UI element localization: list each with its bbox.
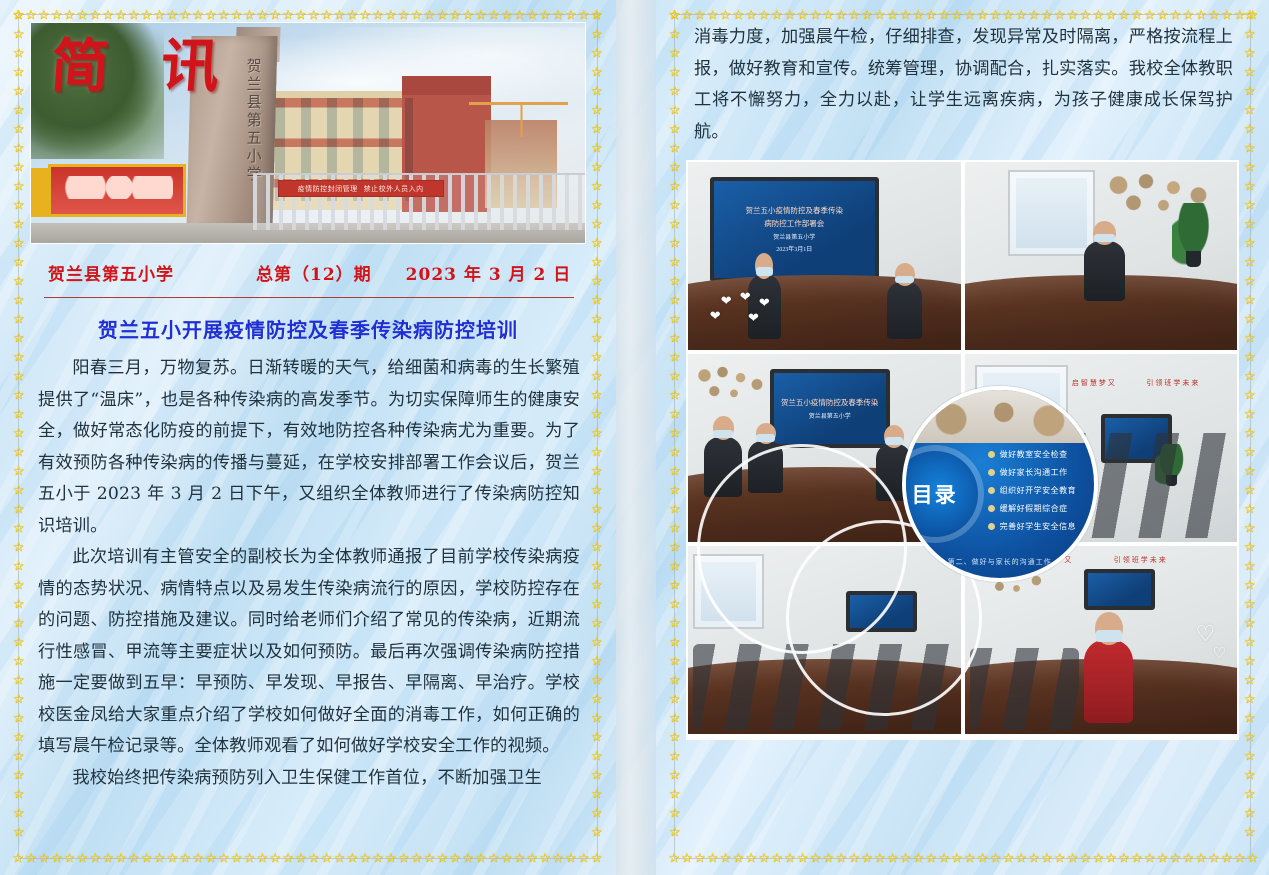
heart-sticker-icon: ❤: [740, 289, 751, 305]
list-item: 做好教室安全检查: [988, 449, 1077, 460]
left-page-content: 贺兰县第五小学 疫情防控封闭管理 禁止校外人员入内 简 讯 贺兰县第五小学 总第…: [30, 22, 586, 853]
star-border-left-icon: ☆☆☆☆☆☆☆☆☆☆☆☆☆☆☆☆☆☆☆☆☆☆☆☆☆☆☆☆☆☆☆☆☆☆☆☆☆☆☆☆…: [12, 8, 26, 865]
heart-sticker-icon: ❤: [721, 293, 732, 309]
list-item: 做好家长沟通工作: [988, 467, 1077, 478]
attendee-person: [887, 282, 922, 338]
article-paragraph: 消毒力度，加强晨午检，仔细排查，发现异常及时隔离，严格按流程上报，做好教育和宣传…: [694, 22, 1233, 148]
party-centennial-poster: [48, 164, 187, 217]
article-paragraph: 阳春三月，万物复苏。日渐转暖的天气，给细菌和病毒的生长繁殖提供了“温床”，也是各…: [38, 353, 580, 542]
article-title: 贺兰五小开展疫情防控及春季传染病防控培训: [30, 314, 586, 343]
heart-sticker-icon: ❤: [710, 308, 721, 324]
list-item-label: 缓解好假期综合症: [1000, 503, 1068, 514]
issue-date: 2023 年 3 月 2 日: [406, 260, 572, 285]
teacher-red-coat: [1084, 640, 1133, 723]
wall-hexagon-decor: [693, 362, 775, 418]
screen-title-line1: 贺兰五小疫情防控及春季传染: [781, 398, 879, 408]
seated-teacher: [1084, 241, 1125, 301]
issue-divider: [44, 297, 574, 298]
photo-meeting-deployment-screen: 贺兰五小疫情防控及春季传染 病防控工作部署会 贺兰县第五小学 2023年3月1日…: [688, 162, 961, 350]
left-page: ☆☆☆☆☆☆☆☆☆☆☆☆☆☆☆☆☆☆☆☆☆☆☆☆☆☆☆☆☆☆☆☆☆☆☆☆☆☆☆☆…: [0, 0, 616, 875]
contents-circle-overlay: 目录 做好教室安全检查 做好家长沟通工作 组织好开学安全教育 缓解好假期综合症 …: [902, 386, 1098, 582]
masthead-title: 简 讯: [49, 35, 238, 97]
photo-teacher-at-conference-table: [965, 162, 1238, 350]
star-border-top-icon: ☆☆☆☆☆☆☆☆☆☆☆☆☆☆☆☆☆☆☆☆☆☆☆☆☆☆☆☆☆☆☆☆☆☆☆☆☆☆☆☆…: [12, 8, 604, 22]
list-item: 缓解好假期综合症: [988, 503, 1077, 514]
presentation-screen: [846, 591, 917, 632]
presentation-screen: 贺兰五小疫情防控及春季传染 贺兰县第五小学: [770, 369, 890, 448]
construction-crane: [469, 102, 569, 137]
screen-title-line2: 病防控工作部署会: [764, 219, 824, 229]
attendees-row: [970, 648, 1079, 731]
wall-slogan-right: 引领班学未来: [1114, 555, 1168, 565]
potted-plant: [1172, 203, 1216, 267]
newsletter-spread: ☆☆☆☆☆☆☆☆☆☆☆☆☆☆☆☆☆☆☆☆☆☆☆☆☆☆☆☆☆☆☆☆☆☆☆☆☆☆☆☆…: [0, 0, 1269, 875]
list-item-label: 组织好开学安全教育: [1000, 485, 1077, 496]
right-page-content: 消毒力度，加强晨午检，仔细排查，发现异常及时隔离，严格按流程上报，做好教育和宣传…: [686, 22, 1239, 853]
attendees-row: [693, 644, 955, 730]
contents-footer: 第二、做好与家长的沟通工作: [906, 557, 1094, 567]
gate-banner-right-text: 禁止校外人员入内: [364, 184, 424, 194]
presentation-screen: [1084, 569, 1155, 610]
gate-banner: 疫情防控封闭管理 禁止校外人员入内: [278, 180, 444, 197]
photo-teachers-taking-notes: [688, 546, 961, 734]
list-item-label: 做好教室安全检查: [1000, 449, 1068, 460]
contents-heading: 目录: [902, 451, 978, 537]
star-border-bottom-icon: ☆☆☆☆☆☆☆☆☆☆☆☆☆☆☆☆☆☆☆☆☆☆☆☆☆☆☆☆☆☆☆☆☆☆☆☆☆☆☆☆…: [668, 851, 1257, 865]
right-page: ☆☆☆☆☆☆☆☆☆☆☆☆☆☆☆☆☆☆☆☆☆☆☆☆☆☆☆☆☆☆☆☆☆☆☆☆☆☆☆☆…: [656, 0, 1269, 875]
list-item-label: 完善好学生安全信息: [1000, 521, 1077, 532]
photo-gallery: 贺兰五小疫情防控及春季传染 病防控工作部署会 贺兰县第五小学 2023年3月1日…: [686, 160, 1239, 740]
star-border-right-icon: ☆☆☆☆☆☆☆☆☆☆☆☆☆☆☆☆☆☆☆☆☆☆☆☆☆☆☆☆☆☆☆☆☆☆☆☆☆☆☆☆…: [590, 8, 604, 865]
list-item-label: 做好家长沟通工作: [1000, 467, 1068, 478]
heart-sticker-icon: ❤: [759, 295, 770, 311]
seated-teacher: [748, 441, 783, 494]
presentation-screen: 贺兰五小疫情防控及春季传染 病防控工作部署会 贺兰县第五小学 2023年3月1日: [710, 177, 879, 282]
article-paragraph: 我校始终把传染病预防列入卫生保健工作首位，不断加强卫生: [38, 763, 580, 795]
issue-number: 总第（12）期: [256, 260, 372, 285]
list-item: 组织好开学安全教育: [988, 485, 1077, 496]
bullet-dot-icon: [988, 451, 995, 458]
article-continuation: 消毒力度，加强晨午检，仔细排查，发现异常及时隔离，严格按流程上报，做好教育和宣传…: [686, 22, 1239, 148]
page-gutter: [616, 0, 656, 875]
contents-list: 做好教室安全检查 做好家长沟通工作 组织好开学安全教育 缓解好假期综合症 完善好…: [988, 449, 1077, 532]
issue-line: 贺兰县第五小学 总第（12）期 2023 年 3 月 2 日: [30, 244, 586, 291]
heart-sticker-icon: ❤: [748, 310, 759, 326]
article-paragraph: 此次培训有主管安全的副校长为全体教师通报了目前学校传染病疫情的态势状况、病情特点…: [38, 542, 580, 763]
overlay-wall-decor: [906, 390, 1094, 443]
article-body: 阳春三月，万物复苏。日渐转暖的天气，给细菌和病毒的生长繁殖提供了“温床”，也是各…: [30, 353, 586, 794]
wall-slogan: 启智慧梦又 引领班学未来: [1057, 377, 1215, 390]
masthead-photo: 贺兰县第五小学 疫情防控封闭管理 禁止校外人员入内 简 讯: [30, 22, 586, 244]
wall-slogan-left: 启智慧梦又: [1072, 378, 1117, 388]
star-border-top-icon: ☆☆☆☆☆☆☆☆☆☆☆☆☆☆☆☆☆☆☆☆☆☆☆☆☆☆☆☆☆☆☆☆☆☆☆☆☆☆☆☆…: [668, 8, 1257, 22]
screen-subtitle: 贺兰县第五小学: [773, 232, 815, 241]
window: [1008, 170, 1095, 256]
wall-slogan-right: 引领班学未来: [1146, 378, 1200, 388]
heart-sticker-icon: ♡: [1213, 644, 1226, 663]
gate-banner-left-text: 疫情防控封闭管理: [298, 184, 358, 194]
list-item: 完善好学生安全信息: [988, 521, 1077, 532]
bullet-dot-icon: [988, 505, 995, 512]
screen-subtitle: 贺兰县第五小学: [809, 411, 851, 420]
bullet-dot-icon: [988, 523, 995, 530]
bullet-dot-icon: [988, 487, 995, 494]
issue-school-name: 贺兰县第五小学: [48, 260, 174, 285]
screen-date: 2023年3月1日: [776, 244, 812, 253]
bullet-dot-icon: [988, 469, 995, 476]
window: [693, 554, 764, 629]
seated-teacher: [704, 437, 742, 497]
screen-title-line1: 贺兰五小疫情防控及春季传染: [746, 206, 844, 216]
star-border-bottom-icon: ☆☆☆☆☆☆☆☆☆☆☆☆☆☆☆☆☆☆☆☆☆☆☆☆☆☆☆☆☆☆☆☆☆☆☆☆☆☆☆☆…: [12, 851, 604, 865]
star-border-right-icon: ☆☆☆☆☆☆☆☆☆☆☆☆☆☆☆☆☆☆☆☆☆☆☆☆☆☆☆☆☆☆☆☆☆☆☆☆☆☆☆☆…: [1243, 8, 1257, 865]
star-border-left-icon: ☆☆☆☆☆☆☆☆☆☆☆☆☆☆☆☆☆☆☆☆☆☆☆☆☆☆☆☆☆☆☆☆☆☆☆☆☆☆☆☆…: [668, 8, 682, 865]
